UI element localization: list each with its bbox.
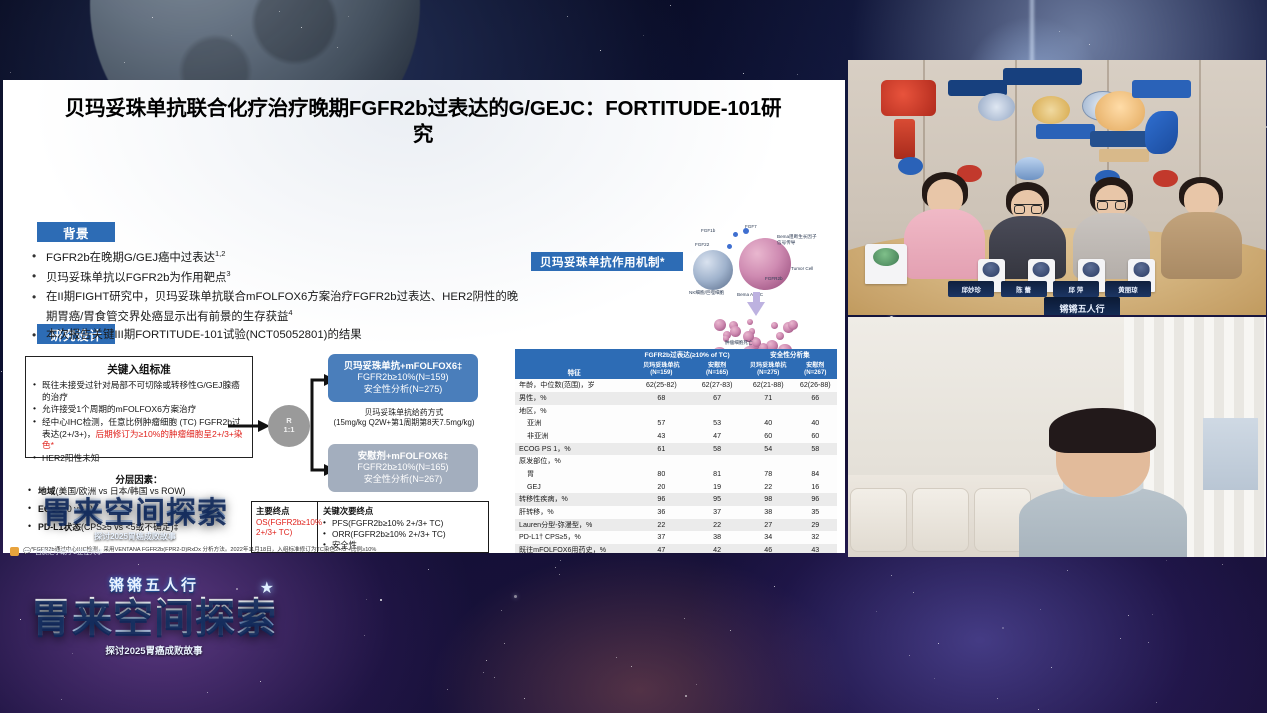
inclusion-item-3: 经中心IHC检测，任意比例肿瘤细胞 (TC) FGFR2b过表达(2+/3+)，… [32, 417, 248, 452]
cushion-2 [912, 488, 969, 552]
row-label: Lauren分型-弥漫型，% [515, 519, 631, 532]
column-subheader-n: (N=159) [633, 369, 689, 376]
row-value-3: 38 [743, 506, 794, 519]
column-subheader-n: (N=275) [745, 369, 792, 376]
panelist-4-body [1161, 212, 1242, 279]
row-label: 原发部位，% [515, 455, 631, 468]
arm-b-line2: FGFR2b≥10%(N=165) [328, 462, 478, 474]
label-tumor-cell: Tumor Cell [791, 266, 813, 271]
section-tab-background: 背景 [37, 222, 115, 242]
column-group-fgfr2b: FGFR2b过表达(≥10% of TC) [631, 349, 743, 361]
row-value-2: 67 [691, 392, 743, 405]
row-value-2 [691, 405, 743, 418]
table-row: 胃80817884 [515, 468, 837, 481]
wall-sticker-red-decoration [881, 80, 935, 116]
row-value-3: 98 [743, 493, 794, 506]
row-value-1: 57 [631, 417, 691, 430]
secondary-endpoint-cell: 关键次要终点 PFS(FGFR2b≥10% 2+/3+ TC)ORR(FGFR2… [318, 502, 488, 552]
row-value-2: 81 [691, 468, 743, 481]
endpoints-box: 主要终点 OS(FGFR2b≥10% 2+/3+ TC) 关键次要终点 PFS(… [251, 501, 489, 553]
inclusion-item-4: HER2阳性未知 [32, 453, 248, 465]
row-value-3: 54 [743, 443, 794, 456]
row-value-3: 62(21-88) [743, 379, 794, 392]
row-value-3 [743, 455, 794, 468]
table-row: 既往mFOLFOX6用药史，%47424643 [515, 544, 837, 553]
table-row: 转移性疾病，%96959896 [515, 493, 837, 506]
row-value-4: 29 [794, 519, 837, 532]
secondary-endpoint-2: ORR(FGFR2b≥10% 2+/3+ TC) [323, 529, 485, 540]
label-tumor-death: 肿瘤细胞死亡 [725, 340, 753, 346]
mechanism-of-action-illustration: FGF1b FGF7 FGF22 FGFR2b Tumor Cell Bema … [693, 228, 823, 346]
nameplate-2: 陈 蕾 [1001, 281, 1047, 298]
background-bullet-list: FGFR2b在晚期G/GEJ癌中过表达1,2贝玛妥珠单抗以FGFR2b为作用靶点… [29, 248, 529, 346]
row-value-3: 46 [743, 544, 794, 553]
row-value-1: 47 [631, 544, 691, 553]
background-bullet-text: 本次报告关键III期FORTITUDE-101试验(NCT05052801)的结… [46, 329, 362, 341]
row-value-1 [631, 455, 691, 468]
row-label: 胃 [515, 468, 631, 481]
table-group-header-row: 特征 FGFR2b过表达(≥10% of TC) 安全性分析集 [515, 349, 837, 361]
wall-sticker-stomach-icon [1145, 111, 1178, 154]
primary-endpoint-value: OS(FGFR2b≥10% 2+/3+ TC) [256, 518, 314, 539]
column-group-safety: 安全性分析集 [743, 349, 837, 361]
inclusion-criteria-box: 关键入组标准 既往未接受过针对局部不可切除或转移性G/GEJ腺癌的治疗允许接受1… [25, 356, 253, 458]
dose-note-line2: (15mg/kg Q2W+第1周期第8天7.5mg/kg) [318, 418, 490, 428]
wall-tag-right [1132, 80, 1191, 98]
wall-sticker-label [1090, 131, 1149, 146]
row-label: 既往mFOLFOX6用药史，% [515, 544, 631, 553]
label-fgfr2b: FGFR2b [765, 276, 783, 281]
row-value-2: 19 [691, 481, 743, 494]
user-avatar-icon [10, 547, 19, 556]
panelist-4 [1157, 177, 1245, 279]
inclusion-item-text: 既往未接受过针对局部不可切除或转移性G/GEJ腺癌的治疗 [42, 380, 240, 402]
row-label: PD-L1† CPS≥5，% [515, 531, 631, 544]
row-label: GEJ [515, 481, 631, 494]
wall-banner-title [1003, 68, 1082, 86]
nameplate-4: 黄丽琼 [1105, 281, 1151, 298]
row-label: 转移性疾病，% [515, 493, 631, 506]
label-fgf1b: FGF1b [701, 228, 715, 233]
row-value-2: 53 [691, 417, 743, 430]
row-value-2: 38 [691, 531, 743, 544]
inclusion-item-2: 允许接受1个周期的mFOLFOX6方案治疗 [32, 404, 248, 416]
row-value-4: 60 [794, 430, 837, 443]
background-bullet-text: 在II期FIGHT研究中，贝玛妥珠单抗联合mFOLFOX6方案治疗FGFR2b过… [46, 291, 518, 322]
row-value-3: 22 [743, 481, 794, 494]
cushion-1 [850, 488, 907, 552]
primary-endpoint-cell: 主要终点 OS(FGFR2b≥10% 2+/3+ TC) [252, 502, 318, 552]
row-label: ECOG PS 1，% [515, 443, 631, 456]
wall-tag-left [1036, 124, 1095, 139]
inclusion-item-1: 既往未接受过针对局部不可切除或转移性G/GEJ腺癌的治疗 [32, 380, 248, 403]
speaker-room-background [848, 317, 1266, 557]
speaker-figure [1019, 408, 1186, 557]
label-fgf7: FGF7 [745, 224, 757, 229]
column-subheader-2: 安慰剂(N=165) [691, 361, 743, 379]
column-subheader-3: 贝玛妥珠单抗(N=275) [743, 361, 794, 379]
row-value-4: 84 [794, 468, 837, 481]
wall-sticker-rocket [1015, 157, 1044, 180]
secondary-endpoint-1: PFS(FGFR2b≥10% 2+/3+ TC) [323, 518, 485, 529]
row-value-3: 78 [743, 468, 794, 481]
randomization-node: R 1:1 [268, 405, 310, 447]
column-subheader-n: (N=267) [796, 369, 835, 376]
label-fgf22: FGF22 [695, 242, 709, 247]
mechanism-arrow-head [747, 302, 765, 316]
star-icon: ★ [260, 578, 274, 598]
row-value-2: 47 [691, 430, 743, 443]
row-value-2: 42 [691, 544, 743, 553]
dose-note: 贝玛妥珠单抗给药方式 (15mg/kg Q2W+第1周期第8天7.5mg/kg) [318, 408, 490, 429]
row-value-4: 40 [794, 417, 837, 430]
share-status-text: 白质汇小助手2正在共享 [35, 547, 102, 556]
secondary-endpoint-head: 关键次要终点 [323, 505, 485, 517]
fgf-ligand-dot [733, 232, 738, 237]
row-label: 地区，% [515, 405, 631, 418]
background-bullet-text: 贝玛妥珠单抗以FGFR2b为作用靶点 [46, 272, 226, 284]
dying-tumor-cell [776, 332, 785, 341]
nameplate-3: 邱 萍 [1053, 281, 1099, 298]
baseline-characteristics-table: 特征 FGFR2b过表达(≥10% of TC) 安全性分析集 贝玛妥珠单抗(N… [515, 349, 837, 553]
branding-small-sub: 探讨2025胃癌成败故事 [30, 531, 240, 542]
background-bullet-1: FGFR2b在晚期G/GEJ癌中过表达1,2 [29, 248, 529, 267]
label-nk-cell: NK细胞/巨噬细胞 [689, 290, 724, 296]
footnote-marker: 3 [226, 269, 230, 278]
row-value-4: 96 [794, 493, 837, 506]
row-value-3 [743, 405, 794, 418]
row-value-2: 58 [691, 443, 743, 456]
row-value-2: 62(27-83) [691, 379, 743, 392]
table-row: PD-L1† CPS≥5，%37383432 [515, 531, 837, 544]
dying-tumor-cell [747, 319, 753, 325]
row-value-4: 43 [794, 544, 837, 553]
slide-title: 贝玛妥珠单抗联合化疗治疗晚期FGFR2b过表达的G/GEJC：FORTITUDE… [63, 96, 783, 148]
wall-sticker-astronaut [978, 93, 1016, 121]
row-value-4: 66 [794, 392, 837, 405]
label-bema-blocking: Bema阻断生长因子信号传导 [777, 234, 817, 245]
row-value-1: 96 [631, 493, 691, 506]
table-row: 地区，% [515, 405, 837, 418]
row-value-3: 27 [743, 519, 794, 532]
row-value-2 [691, 455, 743, 468]
row-value-1 [631, 405, 691, 418]
dose-note-line1: 贝玛妥珠单抗给药方式 [318, 408, 490, 418]
row-value-3: 40 [743, 417, 794, 430]
row-value-2: 95 [691, 493, 743, 506]
row-value-3: 34 [743, 531, 794, 544]
table-row: 亚洲57534040 [515, 417, 837, 430]
column-subheader-arm: 贝玛妥珠单抗 [633, 362, 689, 369]
table-row: ECOG PS 1，%61585458 [515, 443, 837, 456]
wall-sticker-scroll [1099, 149, 1149, 162]
fgf-ligand-dot [727, 244, 732, 249]
column-subheader-1: 贝玛妥珠单抗(N=159) [631, 361, 691, 379]
baseline-characteristics-table-wrap: 特征 FGFR2b过表达(≥10% of TC) 安全性分析集 贝玛妥珠单抗(N… [515, 349, 837, 553]
footnote-marker: 1,2 [215, 249, 225, 258]
table-head: 特征 FGFR2b过表达(≥10% of TC) 安全性分析集 贝玛妥珠单抗(N… [515, 349, 837, 379]
branding-large-sub: 探讨2025胃癌成败故事 [4, 643, 304, 657]
row-value-3: 60 [743, 430, 794, 443]
background-bullet-2: 贝玛妥珠单抗以FGFR2b为作用靶点3 [29, 268, 529, 287]
row-value-1: 20 [631, 481, 691, 494]
table-body: 年龄，中位数(范围)，岁62(25-82)62(27-83)62(21-88)6… [515, 379, 837, 553]
row-value-4: 35 [794, 506, 837, 519]
inclusion-criteria-list: 既往未接受过针对局部不可切除或转移性G/GEJ腺癌的治疗允许接受1个周期的mFO… [32, 380, 248, 465]
column-subheader-4: 安慰剂(N=267) [794, 361, 837, 379]
table-row: GEJ20192216 [515, 481, 837, 494]
tumor-cell-graphic [739, 238, 791, 290]
row-value-1: 80 [631, 468, 691, 481]
speaker-hair [1049, 408, 1156, 453]
table-row: 年龄，中位数(范围)，岁62(25-82)62(27-83)62(21-88)6… [515, 379, 837, 392]
row-label: 亚洲 [515, 417, 631, 430]
row-value-1: 62(25-82) [631, 379, 691, 392]
branding-small-main: 胃来空间探索 [30, 486, 240, 530]
inclusion-item-text: 允许接受1个周期的mFOLFOX6方案治疗 [42, 404, 196, 414]
column-subheader-arm: 安慰剂 [796, 362, 835, 369]
randomization-line2: 1:1 [284, 426, 295, 435]
footnote-marker: 4 [288, 308, 292, 317]
nk-cell-graphic [693, 250, 733, 290]
wall-sticker-firecracker [894, 119, 915, 160]
video-panel-panelists[interactable]: 邱妙珍 陈 蕾 邱 萍 黄丽琼 锵锵五人行 [848, 60, 1266, 315]
window [1203, 418, 1257, 490]
column-header-feature: 特征 [515, 349, 631, 379]
row-value-1: 36 [631, 506, 691, 519]
row-value-2: 22 [691, 519, 743, 532]
branding-large-main: 胃来空间探索 [4, 596, 304, 640]
table-row: Lauren分型-弥漫型，%22222729 [515, 519, 837, 532]
inclusion-criteria-title: 关键入组标准 [26, 362, 252, 377]
arm-a-title: 贝玛妥珠单抗+mFOLFOX6‡ [328, 360, 478, 372]
panelist-3-glasses [1097, 200, 1125, 201]
background-bullet-text: FGFR2b在晚期G/GEJ癌中过表达 [46, 252, 215, 264]
table-row: 肝转移，%36373835 [515, 506, 837, 519]
column-subheader-arm: 贝玛妥珠单抗 [745, 362, 792, 369]
arm-a-line2: FGFR2b≥10%(N=159) [328, 372, 478, 384]
table-row: 非亚洲43476060 [515, 430, 837, 443]
background-bullet-4: 本次报告关键III期FORTITUDE-101试验(NCT05052801)的结… [29, 327, 529, 345]
studio-wall-background: 邱妙珍 陈 蕾 邱 萍 黄丽琼 锵锵五人行 [848, 60, 1266, 315]
column-subheader-n: (N=165) [693, 369, 741, 376]
primary-endpoint-head: 主要终点 [256, 505, 314, 517]
figurine-standee [865, 244, 907, 285]
row-value-4: 32 [794, 531, 837, 544]
row-value-1: 43 [631, 430, 691, 443]
panelist-1 [898, 172, 990, 279]
arm-b-line3: 安全性分析(N=267) [328, 474, 478, 486]
dying-tumor-cell [771, 322, 778, 329]
comment-icon: 💬 [23, 547, 31, 555]
row-label: 非亚洲 [515, 430, 631, 443]
row-label: 男性，% [515, 392, 631, 405]
dying-tumor-cell [730, 326, 741, 337]
panelist-1-body [904, 209, 985, 280]
dying-tumor-cell [788, 320, 798, 330]
wall-sticker-planet [1032, 96, 1070, 124]
row-label: 肝转移，% [515, 506, 631, 519]
treatment-arm-b: 安慰剂+mFOLFOX6‡ FGFR2b≥10%(N=165) 安全性分析(N=… [328, 444, 478, 492]
row-label: 年龄，中位数(范围)，岁 [515, 379, 631, 392]
inclusion-item-text: HER2阳性未知 [42, 453, 99, 463]
row-value-1: 37 [631, 531, 691, 544]
row-value-2: 37 [691, 506, 743, 519]
arm-a-line3: 安全性分析(N=275) [328, 384, 478, 396]
panelist-2-glasses [1014, 204, 1042, 205]
row-value-1: 22 [631, 519, 691, 532]
center-nameplate: 锵锵五人行 [1044, 297, 1119, 315]
column-subheader-arm: 安慰剂 [693, 362, 741, 369]
row-value-4: 16 [794, 481, 837, 494]
video-panel-speaker[interactable] [848, 317, 1266, 557]
table-row: 男性，%68677166 [515, 392, 837, 405]
row-value-4: 58 [794, 443, 837, 456]
row-value-4: 62(26-88) [794, 379, 837, 392]
branding-overlay-large: 锵锵五人行 ★ 胃来空间探索 探讨2025胃癌成败故事 [4, 556, 304, 674]
nameplate-1: 邱妙珍 [948, 281, 994, 298]
table-row: 原发部位，% [515, 455, 837, 468]
row-value-1: 68 [631, 392, 691, 405]
branding-overlay-small: 胃来空间探索 探讨2025胃癌成败故事 [30, 482, 240, 546]
treatment-arm-a: 贝玛妥珠单抗+mFOLFOX6‡ FGFR2b≥10%(N=159) 安全性分析… [328, 354, 478, 402]
row-value-3: 71 [743, 392, 794, 405]
row-value-4 [794, 455, 837, 468]
arm-b-title: 安慰剂+mFOLFOX6‡ [328, 450, 478, 462]
section-tab-mechanism: 贝玛妥珠单抗作用机制* [531, 252, 683, 271]
background-bullet-3: 在II期FIGHT研究中，贝玛妥珠单抗联合mFOLFOX6方案治疗FGFR2b过… [29, 289, 529, 326]
dying-tumor-cell [714, 319, 726, 331]
row-value-4 [794, 405, 837, 418]
row-value-1: 61 [631, 443, 691, 456]
